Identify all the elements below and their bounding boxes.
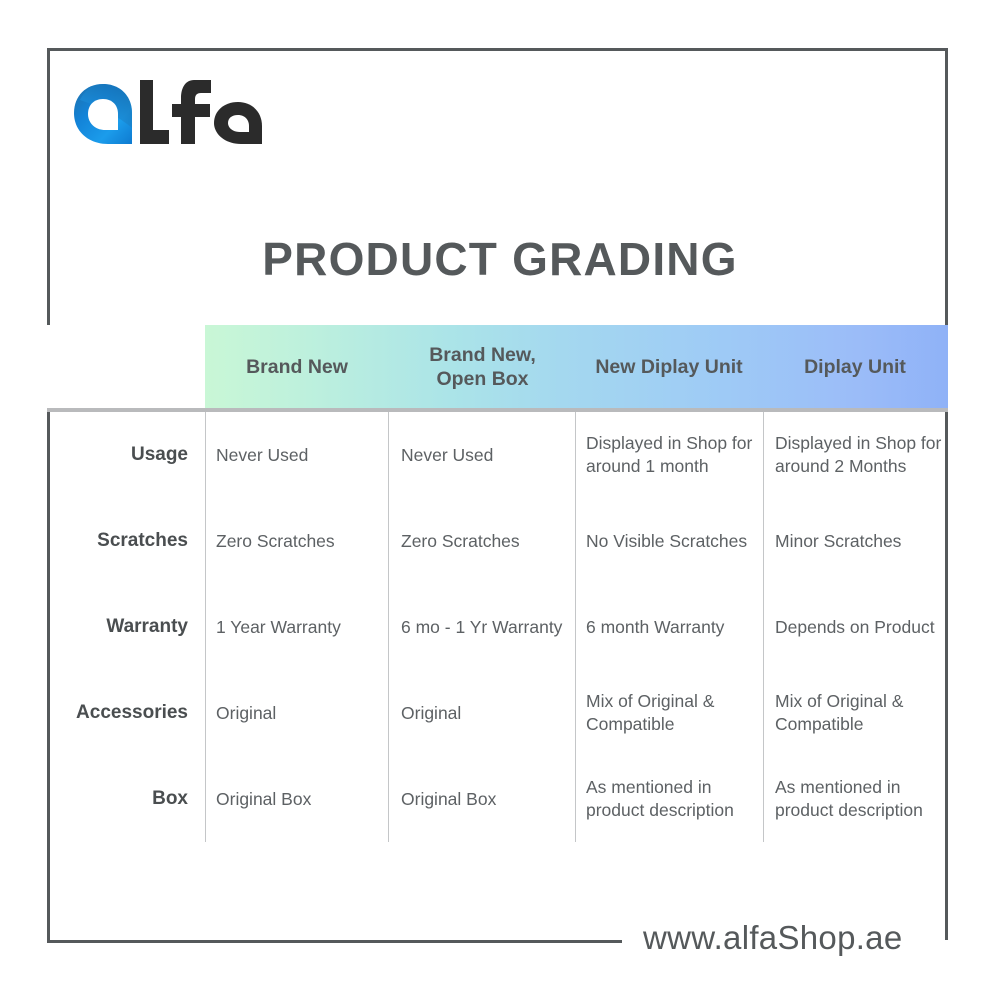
cell-box-display-unit: As mentioned in product description	[763, 756, 948, 842]
row-label-box: Box	[47, 756, 205, 842]
table-row: Box Original Box Original Box As mention…	[47, 756, 948, 842]
table-row: Usage Never Used Never Used Displayed in…	[47, 412, 948, 498]
column-header-brand-new-open-box: Brand New, Open Box	[389, 325, 576, 410]
cell-usage-brand-new-open-box: Never Used	[388, 412, 575, 498]
table-body: Usage Never Used Never Used Displayed in…	[47, 412, 948, 842]
frame-border-top	[47, 48, 948, 51]
product-grading-infographic: PRODUCT GRADING Brand New Brand New, Ope…	[0, 0, 1000, 1000]
footer-website-url: www.alfaShop.ae	[643, 919, 903, 957]
cell-usage-brand-new: Never Used	[205, 412, 388, 498]
column-header-display-unit: Diplay Unit	[762, 325, 948, 410]
cell-scratches-brand-new: Zero Scratches	[205, 498, 388, 584]
cell-box-brand-new-open-box: Original Box	[388, 756, 575, 842]
cell-warranty-brand-new: 1 Year Warranty	[205, 584, 388, 670]
table-header-gradient-band: Brand New Brand New, Open Box New Diplay…	[205, 325, 948, 410]
table-row: Accessories Original Original Mix of Ori…	[47, 670, 948, 756]
cell-warranty-new-display-unit: 6 month Warranty	[575, 584, 763, 670]
cell-warranty-brand-new-open-box: 6 mo - 1 Yr Warranty	[388, 584, 575, 670]
row-label-accessories: Accessories	[47, 670, 205, 756]
cell-accessories-new-display-unit: Mix of Original & Compatible	[575, 670, 763, 756]
page-title: PRODUCT GRADING	[0, 232, 1000, 286]
cell-scratches-brand-new-open-box: Zero Scratches	[388, 498, 575, 584]
grading-table: Brand New Brand New, Open Box New Diplay…	[47, 325, 948, 410]
cell-accessories-brand-new: Original	[205, 670, 388, 756]
row-label-scratches: Scratches	[47, 498, 205, 584]
alfa-logo	[68, 78, 268, 150]
row-label-usage: Usage	[47, 412, 205, 498]
cell-usage-display-unit: Displayed in Shop for around 2 Months	[763, 412, 948, 498]
table-row: Scratches Zero Scratches Zero Scratches …	[47, 498, 948, 584]
table-header-corner-cell	[47, 325, 205, 410]
alfa-logo-icon	[68, 78, 268, 150]
cell-warranty-display-unit: Depends on Product	[763, 584, 948, 670]
cell-accessories-display-unit: Mix of Original & Compatible	[763, 670, 948, 756]
cell-scratches-new-display-unit: No Visible Scratches	[575, 498, 763, 584]
column-header-brand-new: Brand New	[205, 325, 389, 410]
frame-border-bottom	[47, 940, 622, 943]
table-header-row: Brand New Brand New, Open Box New Diplay…	[47, 325, 948, 410]
column-header-new-display-unit: New Diplay Unit	[576, 325, 762, 410]
cell-usage-new-display-unit: Displayed in Shop for around 1 month	[575, 412, 763, 498]
row-label-warranty: Warranty	[47, 584, 205, 670]
table-row: Warranty 1 Year Warranty 6 mo - 1 Yr War…	[47, 584, 948, 670]
cell-accessories-brand-new-open-box: Original	[388, 670, 575, 756]
cell-box-new-display-unit: As mentioned in product description	[575, 756, 763, 842]
cell-box-brand-new: Original Box	[205, 756, 388, 842]
cell-scratches-display-unit: Minor Scratches	[763, 498, 948, 584]
